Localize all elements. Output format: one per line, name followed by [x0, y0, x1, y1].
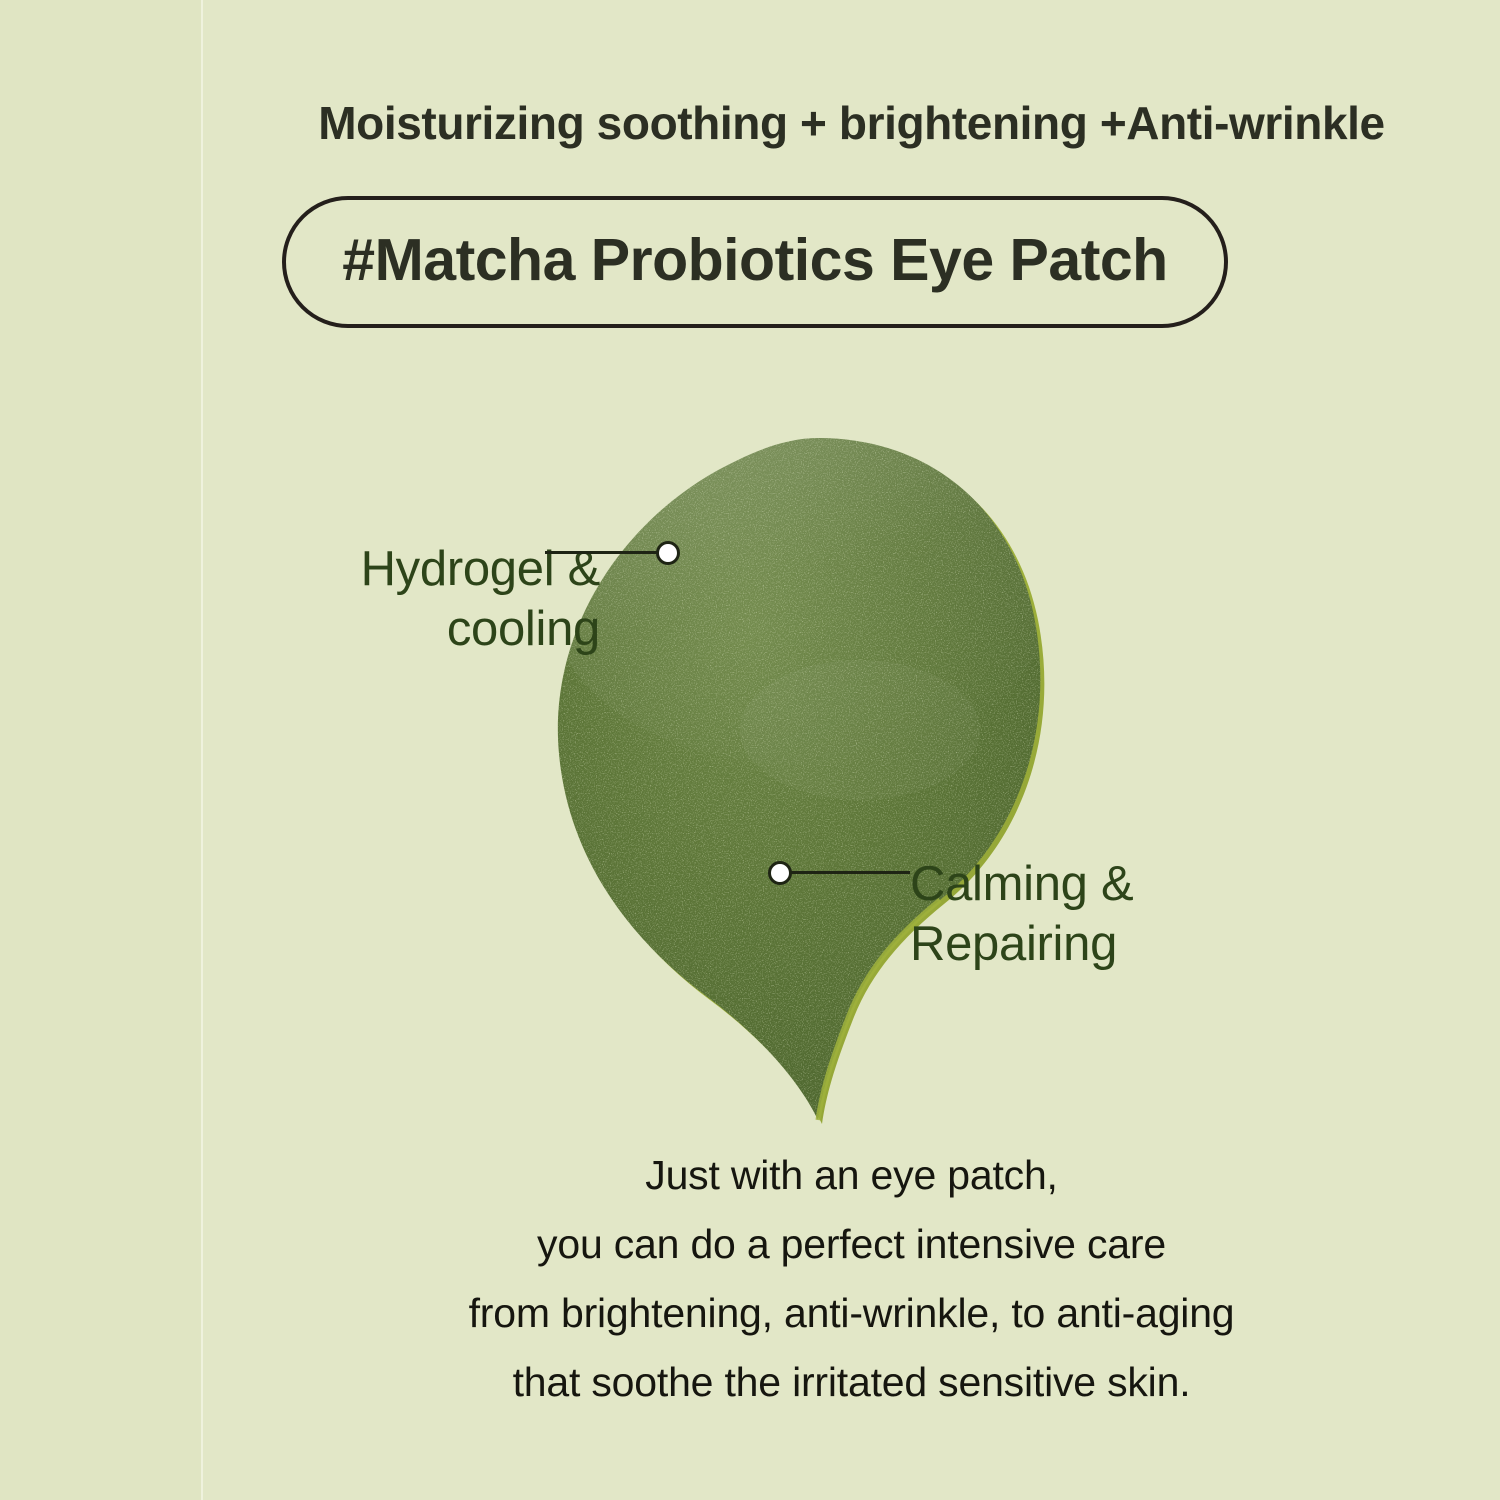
product-description: Just with an eye patch, you can do a per… [203, 1152, 1500, 1406]
page-tagline: Moisturizing soothing + brightening +Ant… [203, 96, 1500, 150]
product-image-area [500, 430, 1120, 1130]
callout-hydrogel-label: Hydrogel & cooling [180, 540, 600, 660]
callout-calming-dot-icon [768, 861, 792, 885]
description-line-3: from brightening, anti-wrinkle, to anti-… [203, 1290, 1500, 1337]
callout-calming-leader-line [782, 871, 910, 874]
callout-hydrogel-dot-icon [656, 541, 680, 565]
callout-calming-line-2: Repairing [910, 917, 1117, 971]
description-line-4: that soothe the irritated sensitive skin… [203, 1359, 1500, 1406]
page-title: #Matcha Probiotics Eye Patch [342, 231, 1167, 290]
callout-calming-line-1: Calming & [910, 857, 1133, 911]
callout-calming-label: Calming & Repairing [910, 855, 1330, 975]
callout-hydrogel-leader-line [545, 551, 665, 554]
product-title-pill: #Matcha Probiotics Eye Patch [282, 196, 1228, 328]
background-left-strip [0, 0, 201, 1500]
description-line-2: you can do a perfect intensive care [203, 1221, 1500, 1268]
callout-hydrogel-line-2: cooling [447, 602, 600, 656]
eye-patch-illustration [500, 430, 1120, 1130]
product-detail-page: Moisturizing soothing + brightening +Ant… [0, 0, 1500, 1500]
description-line-1: Just with an eye patch, [203, 1152, 1500, 1199]
